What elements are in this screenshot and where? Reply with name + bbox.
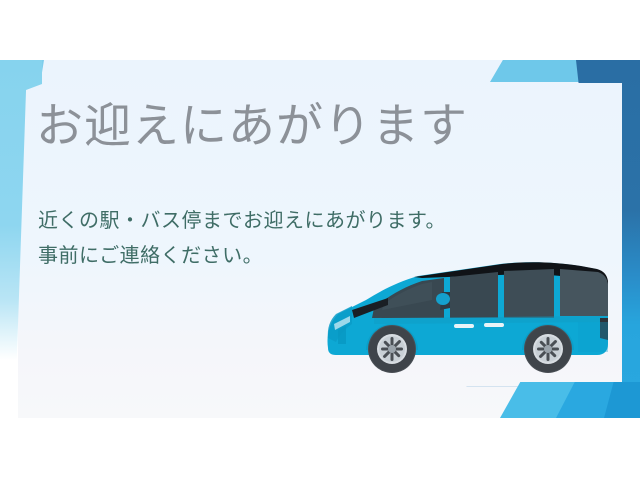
- banner-image: お迎えにあがります 近くの駅・バス停までお迎えにあがります。 事前にご連絡くださ…: [0, 0, 640, 480]
- top-right-light-band: [490, 60, 582, 82]
- page-title: お迎えにあがります: [36, 100, 468, 153]
- minivan-car-icon: [322, 252, 612, 382]
- right-accent-bar: [622, 60, 640, 418]
